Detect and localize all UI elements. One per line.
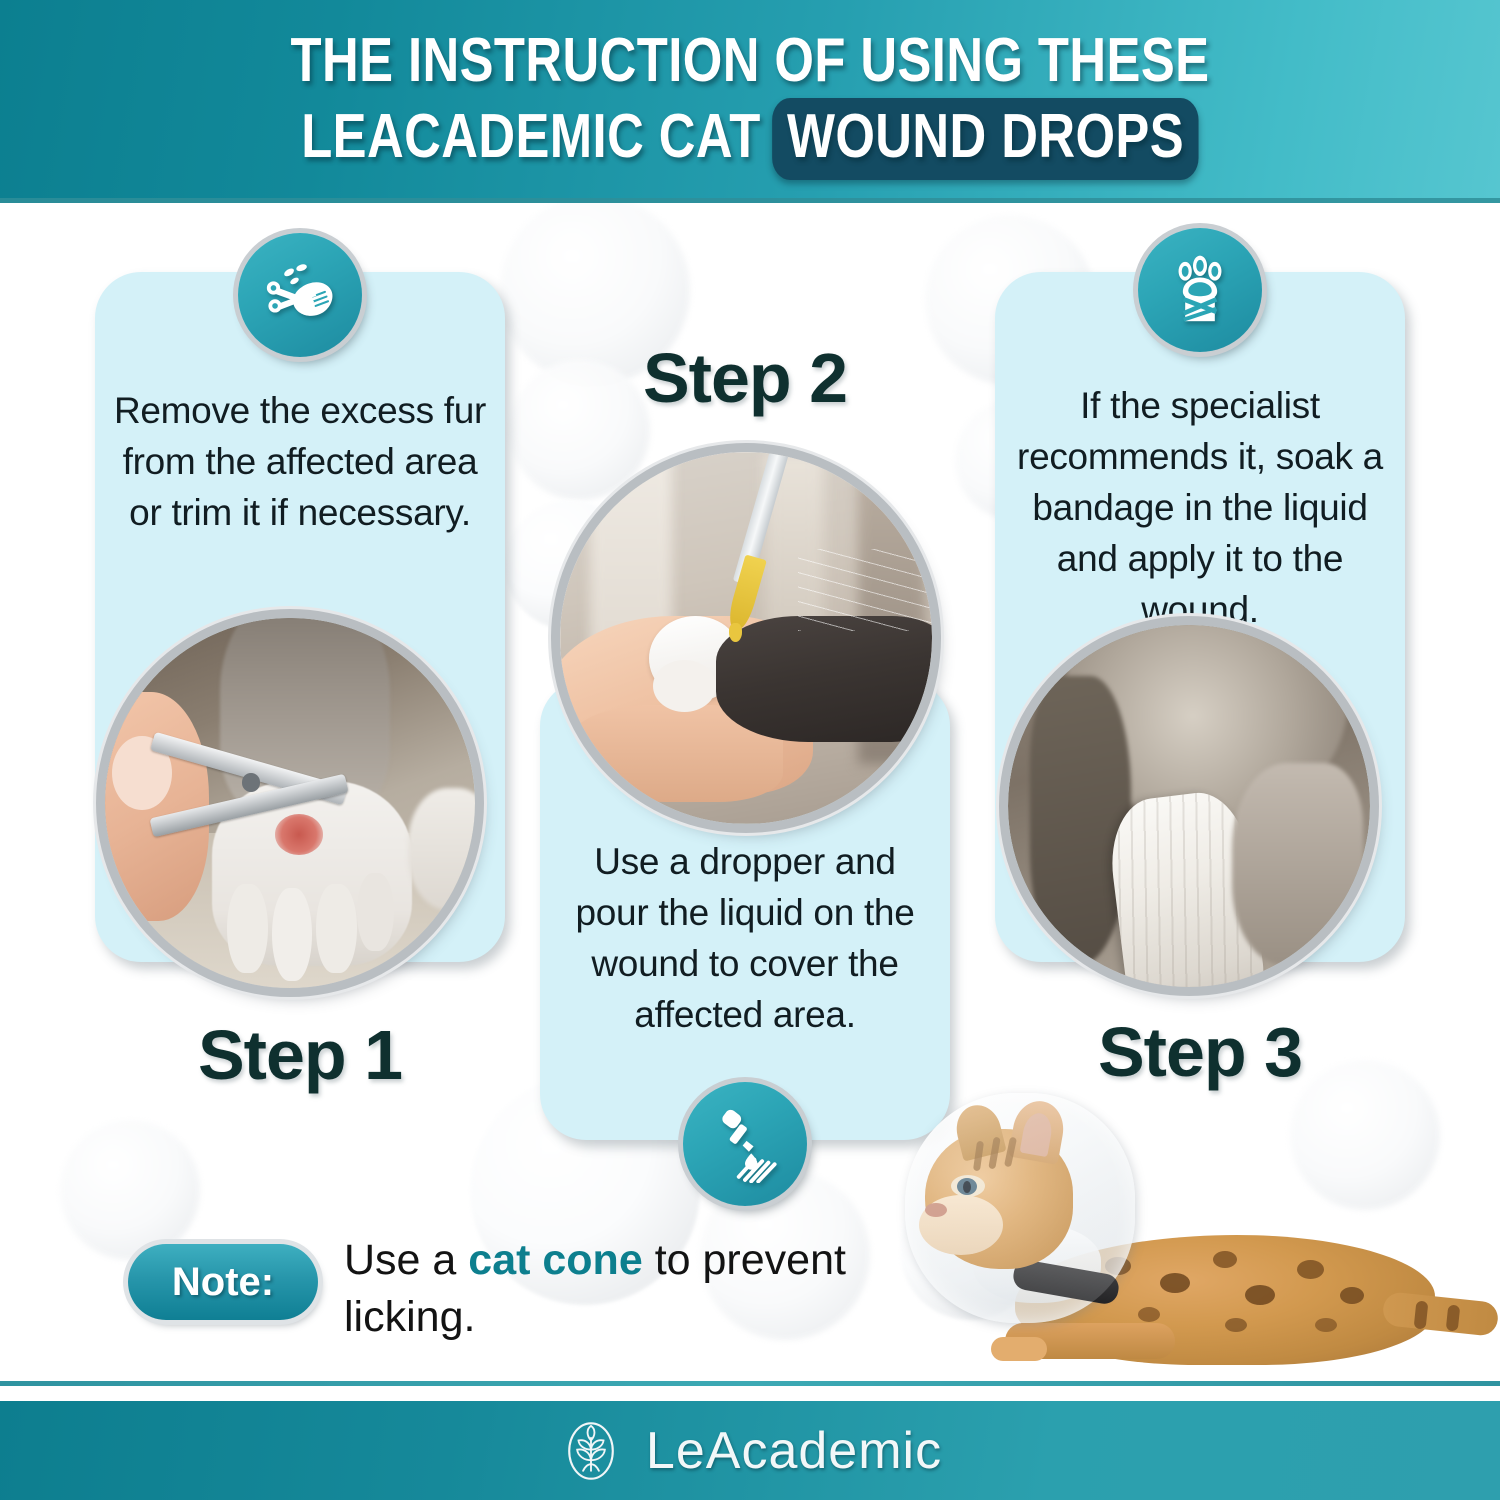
step-2-badge	[683, 1082, 807, 1206]
step-2-text: Use a dropper and pour the liquid on the…	[540, 836, 950, 1040]
header-title-line2: LEACADEMIC CAT	[301, 100, 761, 174]
note-text-before: Use a	[344, 1236, 468, 1284]
step-2-label: Step 2	[540, 338, 950, 418]
header-title-line1: THE INSTRUCTION OF USING THESE	[291, 24, 1210, 98]
step-1-label: Step 1	[95, 1015, 505, 1095]
scissors-trim-fur-icon	[261, 256, 339, 334]
step-2-photo	[560, 452, 932, 824]
note-text: Use a cat cone to prevent licking.	[344, 1232, 884, 1346]
step-3-text: If the specialist recommends it, soak a …	[995, 380, 1405, 635]
step-1-badge	[238, 233, 362, 357]
step-3-photo	[1008, 625, 1370, 987]
header-line-1: THE INSTRUCTION OF USING THESE	[135, 24, 1365, 98]
bandaged-paw-icon	[1161, 251, 1239, 329]
note-text-highlight: cat cone	[468, 1236, 642, 1284]
header-line-2: LEACADEMIC CATWOUND DROPS	[135, 98, 1365, 180]
dropper-liquid-icon	[706, 1105, 784, 1183]
page-footer: LeAcademic	[0, 1401, 1500, 1500]
step-1-photo	[105, 618, 475, 988]
step-3-badge	[1138, 228, 1262, 352]
footer-divider	[0, 1381, 1500, 1386]
infographic-page: THE INSTRUCTION OF USING THESE LEACADEMI…	[0, 0, 1500, 1500]
page-header: THE INSTRUCTION OF USING THESE LEACADEMI…	[0, 0, 1500, 203]
note-pill-label: Note:	[172, 1260, 274, 1305]
note-pill: Note:	[128, 1244, 318, 1320]
header-highlight-chip: WOUND DROPS	[772, 98, 1199, 180]
tree-in-oval-logo-icon	[558, 1418, 624, 1484]
cat-with-cone-image	[895, 1075, 1500, 1385]
header-bottom-edge	[0, 198, 1500, 203]
step-1-text: Remove the excess fur from the affected …	[95, 385, 505, 538]
brand-name: LeAcademic	[646, 1421, 942, 1481]
note-row: Note: Use a cat cone to prevent licking.	[128, 1236, 888, 1346]
